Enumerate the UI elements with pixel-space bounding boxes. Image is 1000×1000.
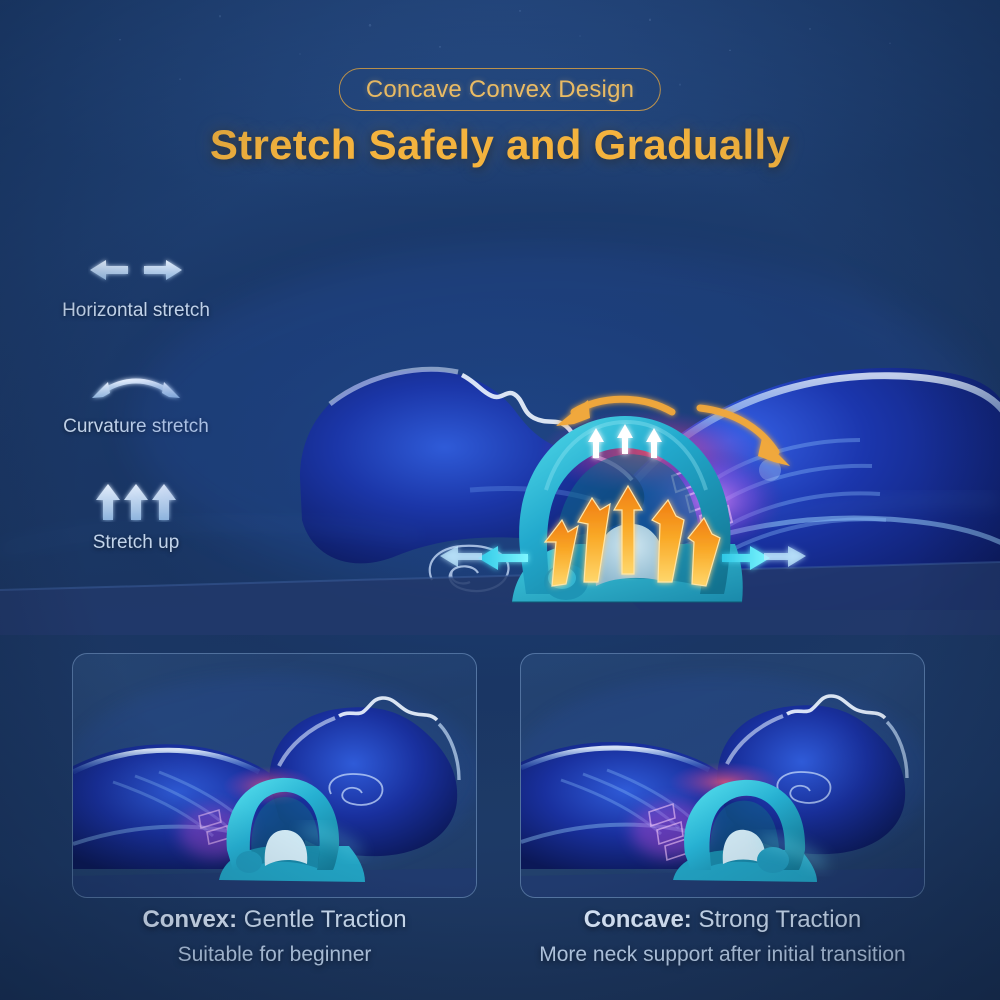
caption-concave-title-bold: Concave: bbox=[584, 906, 692, 933]
panel-convex[interactable] bbox=[72, 653, 477, 898]
caption-concave-title: Concave: Strong Traction bbox=[520, 906, 925, 934]
hero-illustration bbox=[0, 190, 1000, 635]
caption-convex-title: Convex: Gentle Traction bbox=[72, 906, 477, 934]
caption-convex: Convex: Gentle Traction Suitable for beg… bbox=[72, 906, 477, 967]
caption-concave-title-rest: Strong Traction bbox=[692, 906, 861, 933]
page-title: Stretch Safely and Gradually bbox=[0, 121, 1000, 169]
caption-convex-title-bold: Convex: bbox=[142, 906, 237, 933]
design-badge-label: Concave Convex Design bbox=[366, 76, 634, 104]
caption-convex-subtitle: Suitable for beginner bbox=[72, 943, 477, 967]
comparison-panels: Convex: Gentle Traction Suitable for beg… bbox=[0, 648, 1000, 1000]
caption-concave: Concave: Strong Traction More neck suppo… bbox=[520, 906, 925, 967]
design-badge: Concave Convex Design bbox=[339, 68, 661, 111]
infographic-canvas: Concave Convex Design Stretch Safely and… bbox=[0, 0, 1000, 1000]
caption-concave-subtitle: More neck support after initial transiti… bbox=[520, 943, 925, 967]
panel-concave[interactable] bbox=[520, 653, 925, 898]
caption-convex-title-rest: Gentle Traction bbox=[237, 906, 406, 933]
